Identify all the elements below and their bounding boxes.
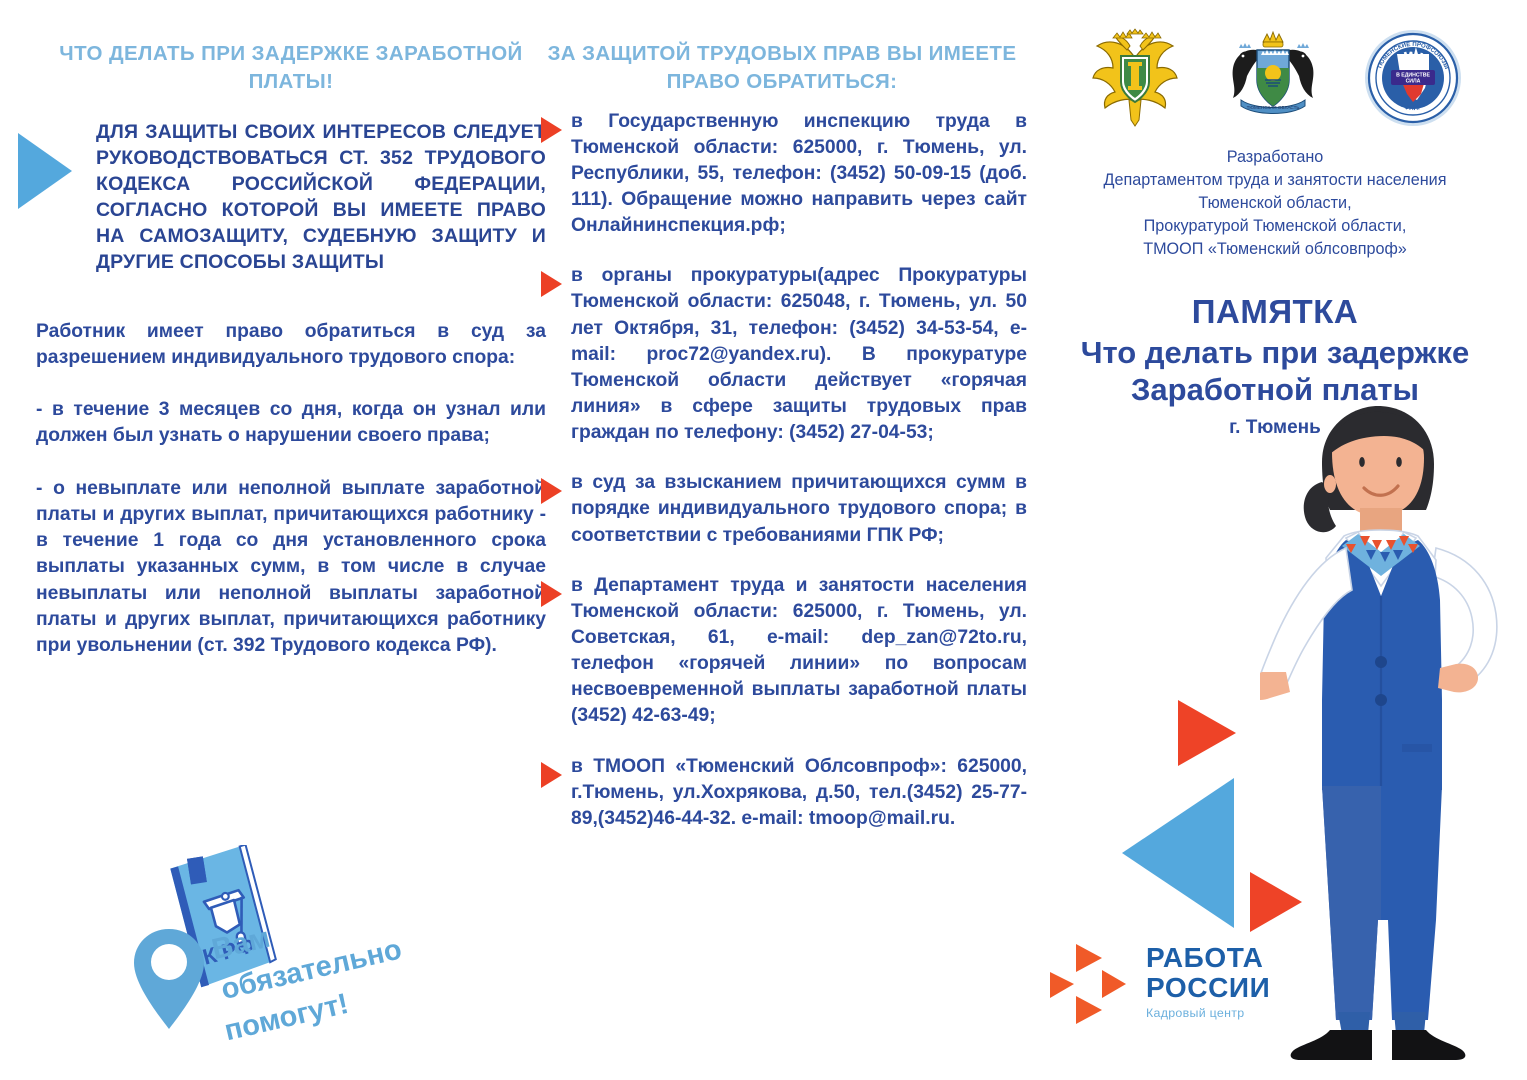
right-column: ТЮМЕНСКАЯ ОБЛАСТЬ В ЕД xyxy=(1040,28,1510,439)
contact-text: в ТМООП «Тюменский Облсовпроф»: 625000, … xyxy=(571,754,1027,832)
tyumen-oblast-coat-of-arms-icon: ТЮМЕНСКАЯ ОБЛАСТЬ xyxy=(1219,28,1327,128)
red-triangle-bullet-icon xyxy=(541,762,562,788)
rabota-rossii-wordmark: РАБОТА РОССИИ Кадровый центр xyxy=(1146,944,1270,1019)
left-heading: ЧТО ДЕЛАТЬ ПРИ ЗАДЕРЖКЕ ЗАРАБОТНОЙ ПЛАТЫ… xyxy=(36,40,546,97)
developed-by-block: Разработано Департаментом труда и занято… xyxy=(1040,146,1510,261)
red-triangle-decoration-top xyxy=(1178,700,1236,766)
rabota-rossii-line-1: РАБОТА xyxy=(1146,944,1270,972)
prosecutor-emblem-icon xyxy=(1087,28,1183,128)
red-triangle-bullet-icon xyxy=(541,117,562,143)
middle-heading: ЗА ЗАЩИТОЙ ТРУДОВЫХ ПРАВ ВЫ ИМЕЕТЕ ПРАВО… xyxy=(537,40,1027,97)
lead-callout: ДЛЯ ЗАЩИТЫ СВОИХ ИНТЕРЕСОВ СЛЕДУЕТ РУКОВ… xyxy=(36,119,546,275)
location-pin-icon xyxy=(130,925,208,1033)
contact-item-prosecutor: в органы прокуратуры(адрес Прокуратуры Т… xyxy=(537,263,1027,446)
contact-item-labor-department: в Департамент труда и занятости населени… xyxy=(537,573,1027,730)
red-triangle-bullet-icon xyxy=(541,581,562,607)
brochure-page: ЧТО ДЕЛАТЬ ПРИ ЗАДЕРЖКЕ ЗАРАБОТНОЙ ПЛАТЫ… xyxy=(0,0,1527,1080)
left-column: ЧТО ДЕЛАТЬ ПРИ ЗАДЕРЖКЕ ЗАРАБОТНОЙ ПЛАТЫ… xyxy=(36,40,546,685)
svg-text:ТЮМЕНСКАЯ ОБЛАСТЬ: ТЮМЕНСКАЯ ОБЛАСТЬ xyxy=(1247,105,1300,110)
help-note: Вам обязательно помогут! xyxy=(130,925,460,1055)
developed-by-line-2: Департаментом труда и занятости населени… xyxy=(1040,169,1510,192)
contact-item-trade-union: в ТМООП «Тюменский Облсовпроф»: 625000, … xyxy=(537,754,1027,832)
developed-by-line-5: ТМООП «Тюменский облсовпроф» xyxy=(1040,238,1510,261)
contact-item-labor-inspection: в Государственную инспекцию труда в Тюме… xyxy=(537,109,1027,240)
consultant-illustration xyxy=(1260,400,1527,1065)
contact-text: в Государственную инспекцию труда в Тюме… xyxy=(571,109,1027,240)
contact-text: в органы прокуратуры(адрес Прокуратуры Т… xyxy=(571,263,1027,446)
seal-inner-line-2: СИЛА xyxy=(1406,79,1421,85)
red-triangle-bullet-icon xyxy=(541,478,562,504)
left-paragraph-3: - о невыплате или неполной выплате зараб… xyxy=(36,476,546,660)
rabota-rossii-mark-icon xyxy=(1046,940,1130,1024)
contact-item-court: в суд за взысканием причитающихся сумм в… xyxy=(537,470,1027,548)
rabota-rossii-logo: РАБОТА РОССИИ Кадровый центр xyxy=(1046,940,1270,1024)
red-triangle-bullet-icon xyxy=(541,271,562,297)
tyumen-trade-unions-seal-icon: В ЕДИНСТВЕ СИЛА ТЮМЕНСКИЕ ПРОФСОЮЗЫ • ФН… xyxy=(1363,28,1463,128)
logo-row: ТЮМЕНСКАЯ ОБЛАСТЬ В ЕД xyxy=(1040,28,1510,136)
developed-by-line-1: Разработано xyxy=(1040,146,1510,169)
memo-subtitle-line-1: Что делать при задержке xyxy=(1081,335,1470,370)
rabota-rossii-tagline: Кадровый центр xyxy=(1146,1007,1270,1019)
middle-column: ЗА ЗАЩИТОЙ ТРУДОВЫХ ПРАВ ВЫ ИМЕЕТЕ ПРАВО… xyxy=(537,40,1027,856)
seal-inner-line-1: В ЕДИНСТВЕ xyxy=(1396,72,1430,78)
blue-arrow-icon xyxy=(18,133,72,209)
blue-triangle-decoration xyxy=(1122,778,1234,928)
memo-title: ПАМЯТКА xyxy=(1040,293,1510,331)
left-paragraph-2: - в течение 3 месяцев со дня, когда он у… xyxy=(36,397,546,449)
contact-text: в суд за взысканием причитающихся сумм в… xyxy=(571,470,1027,548)
rabota-rossii-line-2: РОССИИ xyxy=(1146,974,1270,1002)
developed-by-line-3: Тюменской области, xyxy=(1040,192,1510,215)
lead-text: ДЛЯ ЗАЩИТЫ СВОИХ ИНТЕРЕСОВ СЛЕДУЕТ РУКОВ… xyxy=(96,119,546,275)
developed-by-line-4: Прокуратурой Тюменской области, xyxy=(1040,215,1510,238)
contact-text: в Департамент труда и занятости населени… xyxy=(571,573,1027,730)
left-paragraph-1: Работник имеет право обратиться в суд за… xyxy=(36,319,546,371)
memo-subtitle: Что делать при задержке Заработной платы xyxy=(1040,335,1510,408)
